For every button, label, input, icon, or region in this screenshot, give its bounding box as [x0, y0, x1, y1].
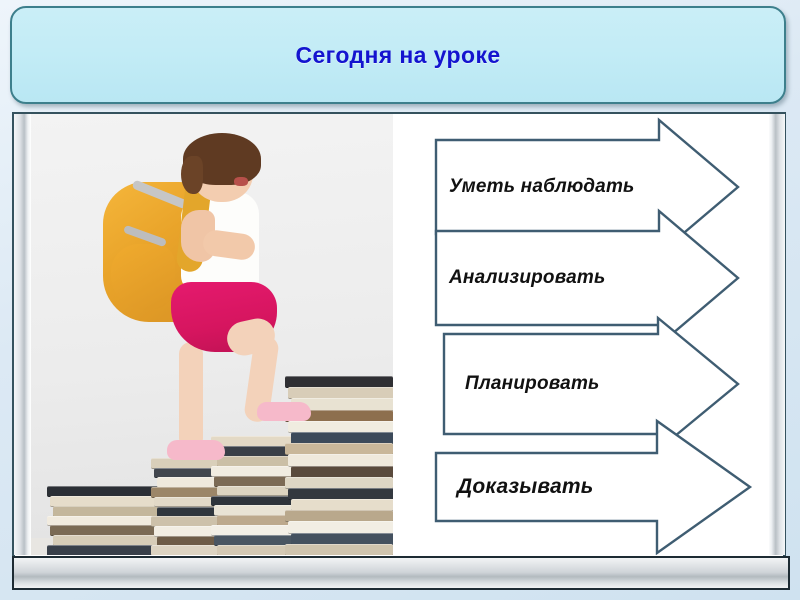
- arrow-shape-4[interactable]: Доказывать: [435, 420, 751, 554]
- girl-mouth: [234, 177, 248, 186]
- girl-hair-side: [181, 156, 203, 194]
- page-title: Сегодня на уроке: [295, 42, 500, 69]
- arrow-label-4: Доказывать: [457, 420, 657, 554]
- girl-leg-back: [179, 342, 203, 450]
- frame-bottom-bar: [12, 556, 790, 590]
- book: [291, 466, 393, 478]
- book: [288, 454, 393, 466]
- frame-rail-right: [768, 114, 785, 555]
- title-banner: Сегодня на уроке: [10, 6, 786, 104]
- slide-canvas: Уметь наблюдать Анализировать Планироват…: [31, 114, 769, 555]
- frame-rail-left: [14, 114, 31, 555]
- book: [285, 544, 393, 555]
- book: [288, 521, 393, 533]
- girl-shoe-front: [257, 402, 311, 421]
- arrow-list: Уметь наблюдать Анализировать Планироват…: [393, 114, 769, 555]
- backpack-pocket: [111, 244, 175, 310]
- girl-shoe-back: [167, 440, 225, 460]
- book: [291, 533, 393, 545]
- slide-root: Сегодня на уроке: [0, 0, 800, 600]
- photo-girl-on-books: [31, 114, 393, 555]
